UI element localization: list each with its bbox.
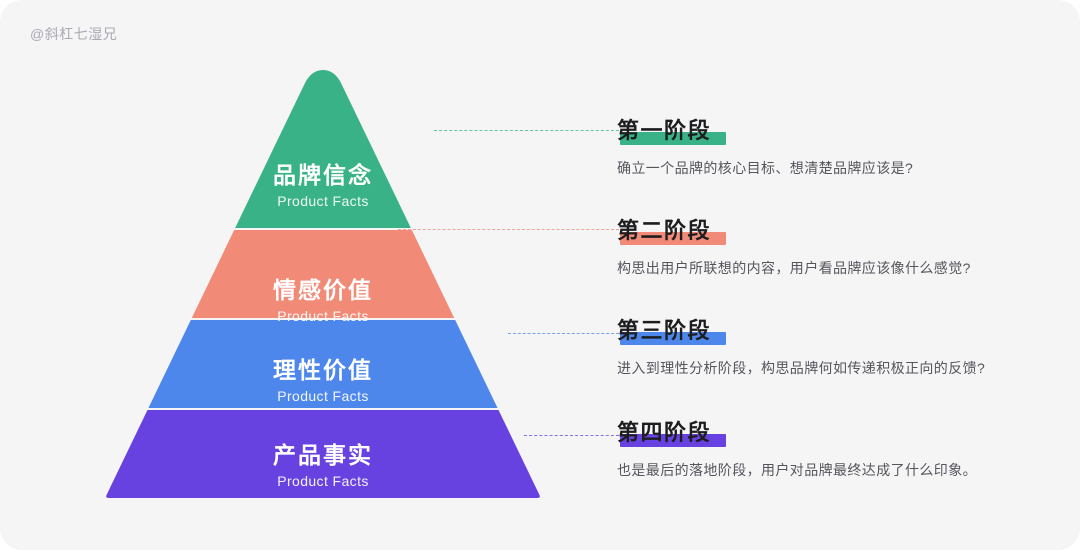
stage-title: 第三阶段 xyxy=(617,316,711,346)
pyramid-tier-1 xyxy=(105,230,541,318)
stage-title-wrap: 第一阶段 xyxy=(617,116,711,146)
stage-title: 第一阶段 xyxy=(617,116,711,146)
stage-item-4: 第四阶段 也是最后的落地阶段，用户对品牌最终达成了什么印象。 xyxy=(617,418,1037,481)
pyramid-shapes xyxy=(105,70,541,498)
stage-item-3: 第三阶段 进入到理性分析阶段，构思品牌何如传递积极正向的反馈? xyxy=(617,316,1037,379)
stage-title-wrap: 第四阶段 xyxy=(617,418,711,448)
watermark-text: @斜杠七湿兄 xyxy=(30,24,117,44)
stage-title-wrap: 第三阶段 xyxy=(617,316,711,346)
stage-item-2: 第二阶段 构思出用户所联想的内容，用户看品牌应该像什么感觉? xyxy=(617,216,1037,279)
stage-description: 进入到理性分析阶段，构思品牌何如传递积极正向的反馈? xyxy=(617,357,1037,379)
pyramid-tier-3 xyxy=(105,410,541,498)
stage-description: 确立一个品牌的核心目标、想清楚品牌应该是? xyxy=(617,157,1037,179)
stage-title-wrap: 第二阶段 xyxy=(617,216,711,246)
pyramid-diagram: 品牌信念 Product Facts 情感价值 Product Facts 理性… xyxy=(105,70,541,498)
slide-canvas: @斜杠七湿兄 品牌信念 Product Facts 情感价值 xyxy=(0,0,1080,550)
stages-list: 第一阶段 确立一个品牌的核心目标、想清楚品牌应该是? 第二阶段 构思出用户所联想… xyxy=(617,0,1047,550)
stage-title: 第四阶段 xyxy=(617,418,711,448)
stage-item-1: 第一阶段 确立一个品牌的核心目标、想清楚品牌应该是? xyxy=(617,116,1037,179)
stage-description: 也是最后的落地阶段，用户对品牌最终达成了什么印象。 xyxy=(617,459,1037,481)
pyramid-tier-0 xyxy=(105,70,541,228)
stage-title: 第二阶段 xyxy=(617,216,711,246)
stage-description: 构思出用户所联想的内容，用户看品牌应该像什么感觉? xyxy=(617,257,1037,279)
pyramid-tier-2 xyxy=(105,320,541,408)
